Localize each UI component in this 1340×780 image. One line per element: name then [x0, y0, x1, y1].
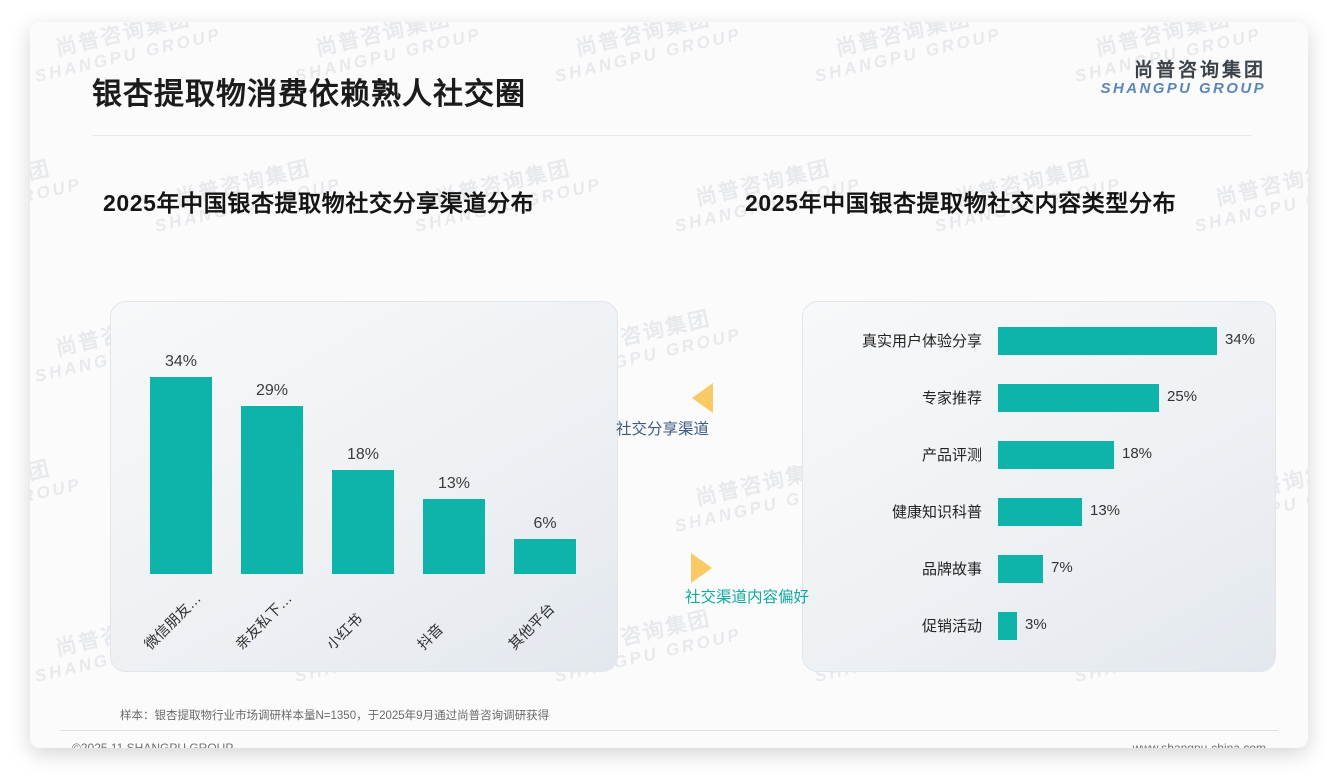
bar-row: 促销活动3% [802, 611, 1274, 641]
bar-row: 专家推荐25% [802, 383, 1274, 413]
annotation-a-label: 社交分享渠道 [616, 417, 713, 439]
column-item: 6%其他平台 [514, 301, 576, 670]
website-link[interactable]: www.shangpu-china.com [1133, 741, 1266, 748]
column-value-label: 29% [223, 382, 321, 400]
triangle-left-icon [692, 383, 713, 413]
left-chart-title: 2025年中国银杏提取物社交分享渠道分布 [103, 184, 534, 218]
watermark-text: 尚普咨询集团SHANGPU GROUP [30, 451, 83, 535]
footer-divider [60, 730, 1278, 731]
logo-chinese-name: 尚普咨询集团 [1101, 60, 1266, 81]
column-category-label: 小红书 [321, 608, 367, 654]
bar-value-label: 13% [1090, 502, 1120, 519]
bar-value-label: 18% [1122, 445, 1152, 462]
bar-fill[interactable] [998, 384, 1159, 412]
column-category-label: 其他平台 [503, 598, 559, 654]
bar-value-label: 25% [1167, 388, 1197, 405]
column-bar[interactable] [332, 470, 394, 574]
bar-fill[interactable] [998, 498, 1082, 526]
watermark-text: 尚普咨询集团SHANGPU GROUP [1188, 151, 1308, 235]
column-value-label: 13% [405, 475, 503, 493]
bar-fill[interactable] [998, 612, 1017, 640]
bar-fill[interactable] [998, 327, 1217, 355]
right-chart-title: 2025年中国银杏提取物社交内容类型分布 [745, 184, 1176, 218]
bar-fill[interactable] [998, 555, 1043, 583]
column-value-label: 34% [132, 353, 230, 371]
slide-canvas: 尚普咨询集团SHANGPU GROUP尚普咨询集团SHANGPU GROUP尚普… [30, 22, 1308, 748]
column-chart: 34%微信朋友…29%亲友私下…18%小红书13%抖音6%其他平台 [110, 301, 616, 670]
brand-logo: 尚普咨询集团 SHANGPU GROUP [1101, 60, 1266, 98]
bar-category-label: 专家推荐 [802, 387, 982, 408]
annotation-b-label: 社交渠道内容偏好 [685, 585, 809, 607]
bar-value-label: 7% [1051, 559, 1073, 576]
copyright-text: ©2025.11 SHANGPU GROUP [72, 741, 233, 748]
bar-category-label: 健康知识科普 [802, 501, 982, 522]
triangle-right-icon [691, 553, 809, 583]
bar-value-label: 34% [1225, 331, 1255, 348]
bar-category-label: 产品评测 [802, 444, 982, 465]
bar-category-label: 品牌故事 [802, 558, 982, 579]
column-item: 34%微信朋友… [150, 301, 212, 670]
bar-value-label: 3% [1025, 616, 1047, 633]
watermark-text: 尚普咨询集团SHANGPU GROUP [30, 151, 83, 235]
column-bar[interactable] [241, 406, 303, 574]
column-value-label: 18% [314, 446, 412, 464]
logo-english-name: SHANGPU GROUP [1101, 81, 1266, 98]
column-value-label: 6% [496, 515, 594, 533]
column-item: 13%抖音 [423, 301, 485, 670]
horizontal-bar-chart: 真实用户体验分享34%专家推荐25%产品评测18%健康知识科普13%品牌故事7%… [802, 301, 1274, 670]
column-item: 29%亲友私下… [241, 301, 303, 670]
bar-category-label: 促销活动 [802, 615, 982, 636]
header-divider [92, 135, 1252, 136]
column-bar[interactable] [150, 377, 212, 574]
source-note: 样本：银杏提取物行业市场调研样本量N=1350，于2025年9月通过尚普咨询调研… [120, 707, 549, 723]
bar-fill[interactable] [998, 441, 1114, 469]
column-item: 18%小红书 [332, 301, 394, 670]
column-bar[interactable] [514, 539, 576, 574]
column-bar[interactable] [423, 499, 485, 574]
column-category-label: 微信朋友… [139, 588, 205, 654]
bar-row: 健康知识科普13% [802, 497, 1274, 527]
annotation-content-preference: 社交渠道内容偏好 [685, 553, 809, 607]
annotation-social-share-channel: 社交分享渠道 [616, 383, 713, 439]
column-category-label: 抖音 [412, 619, 447, 654]
bar-category-label: 真实用户体验分享 [802, 330, 982, 351]
bar-row: 产品评测18% [802, 440, 1274, 470]
column-category-label: 亲友私下… [230, 588, 296, 654]
slide-header: 银杏提取物消费依赖熟人社交圈 尚普咨询集团 SHANGPU GROUP [30, 22, 1308, 114]
bar-row: 品牌故事7% [802, 554, 1274, 584]
bar-row: 真实用户体验分享34% [802, 326, 1274, 356]
page-title: 银杏提取物消费依赖熟人社交圈 [92, 80, 526, 110]
